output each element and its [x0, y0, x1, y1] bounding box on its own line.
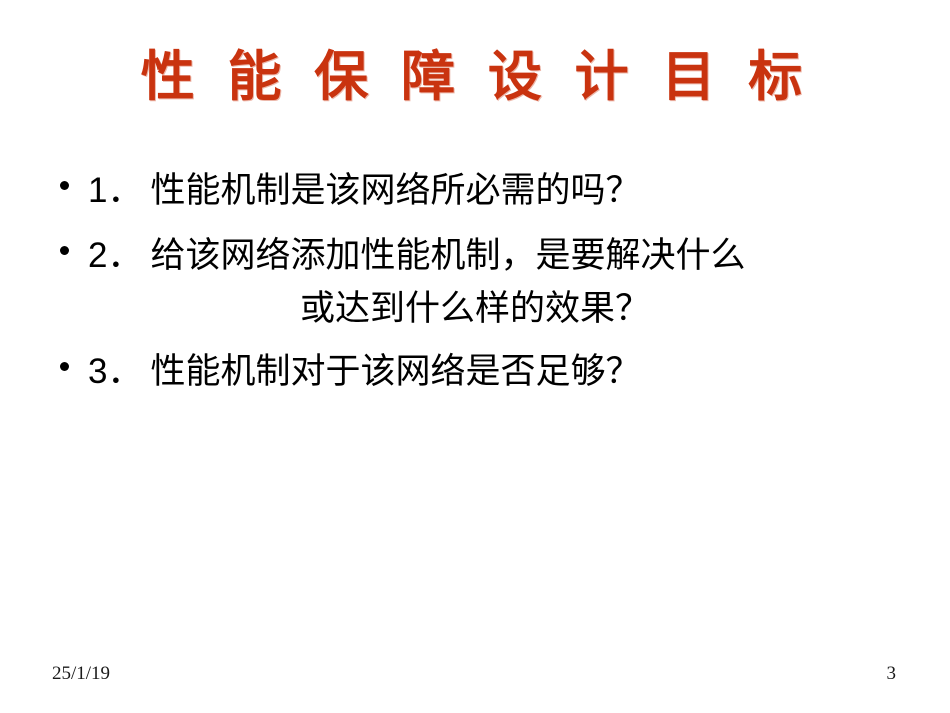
list-item: 3．性能机制对于该网络是否足够？: [52, 344, 920, 399]
list-item-number: 1: [88, 171, 107, 210]
bullet-list: 1．性能机制是该网络所必需的吗？ 2．给该网络添加性能机制，是要解决什么 或达到…: [0, 163, 950, 410]
list-item-wrapped-text: 或达到什么样的效果？: [88, 284, 920, 335]
list-item-number: 2: [88, 236, 107, 275]
list-item: 1．性能机制是该网络所必需的吗？: [52, 163, 920, 218]
slide: 性 能 保 障 设 计 目 标 1．性能机制是该网络所必需的吗？ 2．给该网络添…: [0, 0, 950, 713]
page-title: 性 能 保 障 设 计 目 标: [0, 48, 950, 105]
list-item-text: 性能机制对于该网络是否足够？: [150, 352, 640, 391]
footer-page-number: 3: [887, 663, 897, 685]
bullet-dot-icon: [60, 362, 69, 371]
list-item-separator: ．: [107, 236, 150, 275]
bullet-dot-icon: [60, 246, 69, 255]
list-item-text: 给该网络添加性能机制，是要解决什么: [150, 236, 745, 275]
list-item-text: 性能机制是该网络所必需的吗？: [150, 171, 640, 210]
bullet-dot-icon: [60, 181, 69, 190]
list-item-separator: ．: [107, 171, 150, 210]
list-item-number: 3: [88, 352, 107, 391]
list-item-separator: ．: [107, 352, 150, 391]
list-item: 2．给该网络添加性能机制，是要解决什么 或达到什么样的效果？: [52, 228, 920, 334]
footer-date: 25/1/19: [52, 663, 110, 685]
